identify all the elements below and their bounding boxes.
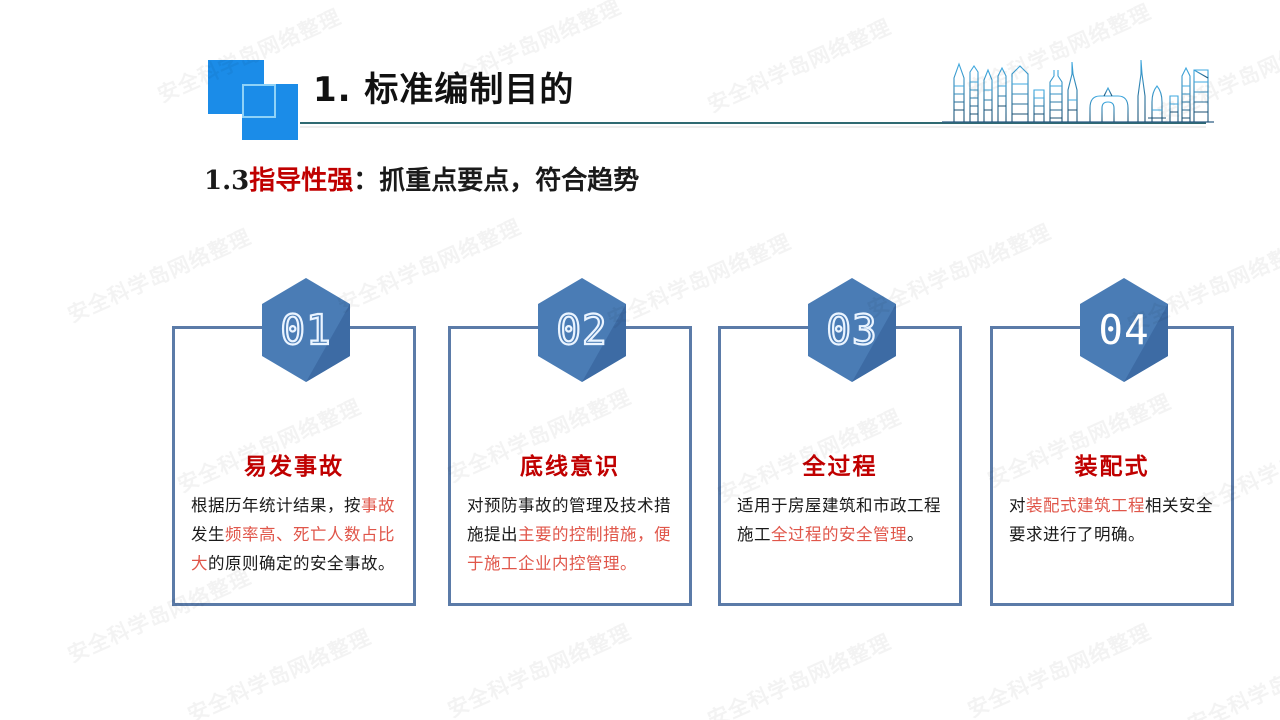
subtitle-rest: ：抓重点要点，符合趋势 <box>353 166 639 196</box>
card-number-badge: 03 <box>808 278 896 382</box>
watermark-text: 安全科学岛网络整理 <box>962 616 1155 720</box>
title-accent-bar <box>276 100 290 140</box>
text-run: 。 <box>907 525 924 544</box>
text-run: 全过程的安全管理 <box>771 525 907 544</box>
section-subtitle: 1.3指导性强：抓重点要点，符合趋势 <box>204 160 639 197</box>
text-run: 事故 <box>361 496 395 515</box>
subtitle-number: 1.3 <box>204 166 249 196</box>
watermark-text: 安全科学岛网络整理 <box>702 626 895 720</box>
logo-square-outline <box>242 84 276 118</box>
text-run: 的原则确定的安全事故。 <box>208 554 395 573</box>
watermark-text: 安全科学岛网络整理 <box>182 621 375 720</box>
card-title: 易发事故 <box>175 447 413 481</box>
card-title: 全过程 <box>721 447 959 481</box>
text-run: 根据历年统计结果，按 <box>191 496 361 515</box>
watermark-text: 安全科学岛网络整理 <box>702 11 895 119</box>
card-number-badge: 02 <box>538 278 626 382</box>
subtitle-highlight: 指导性强 <box>249 166 353 196</box>
text-run: 发生 <box>191 525 225 544</box>
cards-row: 易发事故 根据历年统计结果，按事故发生频率高、死亡人数占比大的原则确定的安全事故… <box>172 278 1240 608</box>
card-number-badge: 01 <box>262 278 350 382</box>
watermark-text: 安全科学岛网络整理 <box>1182 631 1280 720</box>
card-title: 装配式 <box>993 447 1231 481</box>
text-run: 装配式建筑工程 <box>1026 496 1145 515</box>
card-number-badge: 04 <box>1080 278 1168 382</box>
slide-canvas: 1. 标准编制目的 <box>0 0 1280 720</box>
page-title: 1. 标准编制目的 <box>313 62 574 111</box>
text-run: 对 <box>1009 496 1026 515</box>
card-title: 底线意识 <box>451 447 689 481</box>
city-skyline-icon <box>942 56 1214 128</box>
card-body: 对预防事故的管理及技术措施提出主要的控制措施，便于施工企业内控管理。 <box>467 491 673 578</box>
card-body: 适用于房屋建筑和市政工程施工全过程的安全管理。 <box>737 491 943 549</box>
card-body: 根据历年统计结果，按事故发生频率高、死亡人数占比大的原则确定的安全事故。 <box>191 491 397 578</box>
card-body: 对装配式建筑工程相关安全要求进行了明确。 <box>1009 491 1215 549</box>
watermark-text: 安全科学岛网络整理 <box>442 616 635 720</box>
